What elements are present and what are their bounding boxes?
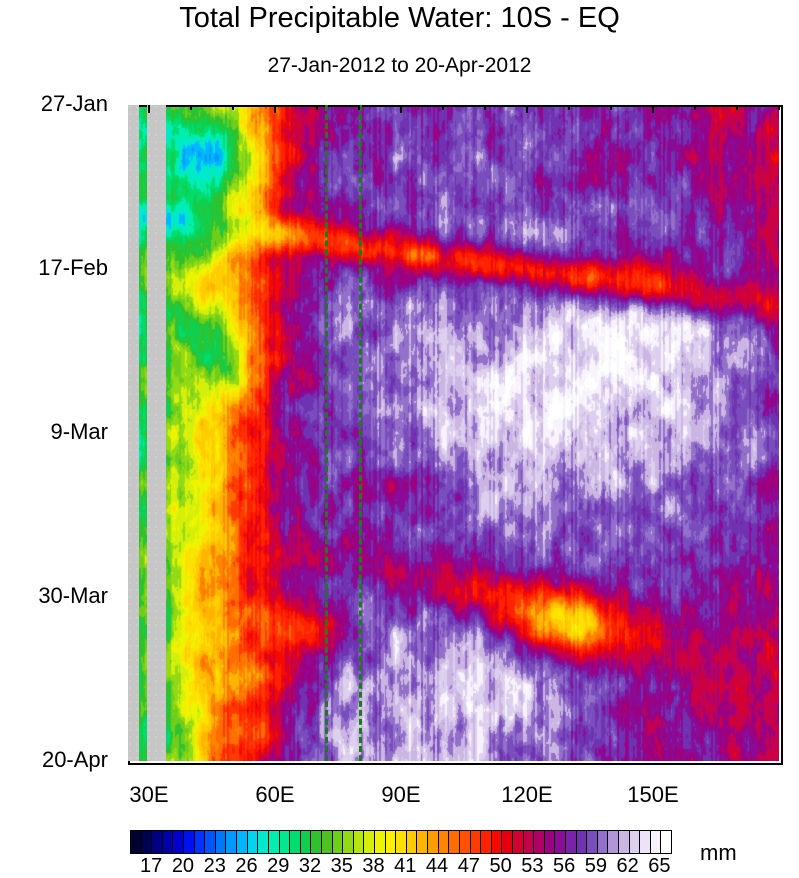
colorbar-swatch [184,831,195,853]
x-axis-label[interactable]: 150E [608,782,698,808]
colorbar-swatch [396,831,407,853]
x-tick-inner [358,105,360,110]
x-tick-inner [484,105,486,110]
colorbar-swatch [375,831,386,853]
x-axis-label[interactable]: 60E [230,782,320,808]
y-axis-label[interactable]: 27-Jan [0,91,108,117]
colorbar-swatch [460,831,471,853]
colorbar-swatch [152,831,163,853]
colorbar-swatch [439,831,450,853]
x-axis-label[interactable]: 120E [482,782,572,808]
colorbar-swatch [555,831,566,853]
colorbar-swatch [322,831,333,853]
x-tick-inner [568,105,570,110]
colorbar-swatch [333,831,344,853]
colorbar-swatch [502,831,513,853]
x-tick-inner [736,105,738,110]
meridian-marker-line [325,105,328,761]
colorbar-swatch [534,831,545,853]
x-tick-inner [694,105,696,110]
colorbar-swatch [630,831,641,853]
colorbar-swatch [587,831,598,853]
colorbar-swatch [290,831,301,853]
y-axis-label[interactable]: 30-Mar [0,583,108,609]
colorbar-swatch [619,831,630,853]
colorbar-swatch [354,831,365,853]
colorbar-swatch [481,831,492,853]
x-tick[interactable] [0,128,2,135]
colorbar-swatch [258,831,269,853]
hovmoller-figure: Total Precipitable Water: 10S - EQ 27-Ja… [0,0,799,872]
x-tick-inner [232,105,234,110]
colorbar-swatch [417,831,428,853]
x-tick-inner [442,105,444,110]
colorbar-swatch [343,831,354,853]
x-tick-inner [610,105,612,110]
date-range-subtitle: 27-Jan-2012 to 20-Apr-2012 [0,54,799,78]
colorbar-swatch [142,831,153,853]
colorbar-swatch [449,831,460,853]
y-axis-label[interactable]: 9-Mar [0,419,108,445]
colorbar-tick-label: 65 [629,855,689,878]
x-tick[interactable] [0,47,2,54]
colorbar-swatch [598,831,609,853]
x-tick-inner [526,105,528,113]
colorbar-swatch [216,831,227,853]
x-tick-inner [316,105,318,110]
y-axis-label[interactable]: 17-Feb [0,255,108,281]
colorbar-swatch [661,831,671,853]
x-tick-inner [400,105,402,113]
x-tick-inner [274,105,276,113]
x-axis-label[interactable]: 30E [104,782,194,808]
x-tick-inner [778,105,780,110]
page-title: Total Precipitable Water: 10S - EQ [0,2,799,35]
colorbar-swatch [163,831,174,853]
colorbar-swatch [248,831,259,853]
y-tick[interactable] [0,166,13,168]
colorbar-swatch [386,831,397,853]
heatmap-plot-area [128,105,779,761]
colorbar-swatch [651,831,662,853]
colorbar-swatch [173,831,184,853]
colorbar-swatch [608,831,619,853]
colorbar-swatch [428,831,439,853]
colorbar-swatch [226,831,237,853]
colorbar-swatch [566,831,577,853]
colorbar-swatch [640,831,651,853]
colorbar-swatch [524,831,535,853]
x-tick[interactable] [0,121,2,128]
precipitable-water-heatmap [128,105,779,761]
colorbar-swatch [301,831,312,853]
colorbar [130,830,672,854]
colorbar-swatch [280,831,291,853]
colorbar-swatch [131,831,142,853]
colorbar-swatch [195,831,206,853]
colorbar-swatch [513,831,524,853]
land-mask-band [128,105,139,761]
x-axis-label[interactable]: 90E [356,782,446,808]
colorbar-swatch [471,831,482,853]
colorbar-swatch [237,831,248,853]
colorbar-swatch [577,831,588,853]
colorbar-swatch [364,831,375,853]
colorbar-swatch [545,831,556,853]
x-tick[interactable] [0,40,2,47]
x-tick-inner [148,105,150,113]
land-mask-band [147,105,166,761]
colorbar-unit-label: mm [700,840,737,866]
x-tick[interactable] [0,135,2,142]
colorbar-swatch [407,831,418,853]
colorbar-swatch [205,831,216,853]
y-axis-label[interactable]: 20-Apr [0,747,108,773]
colorbar-swatch [269,831,280,853]
colorbar-swatch [311,831,322,853]
meridian-marker-line [359,105,362,761]
x-tick-inner [652,105,654,113]
x-tick-inner [190,105,192,110]
colorbar-swatch [492,831,503,853]
